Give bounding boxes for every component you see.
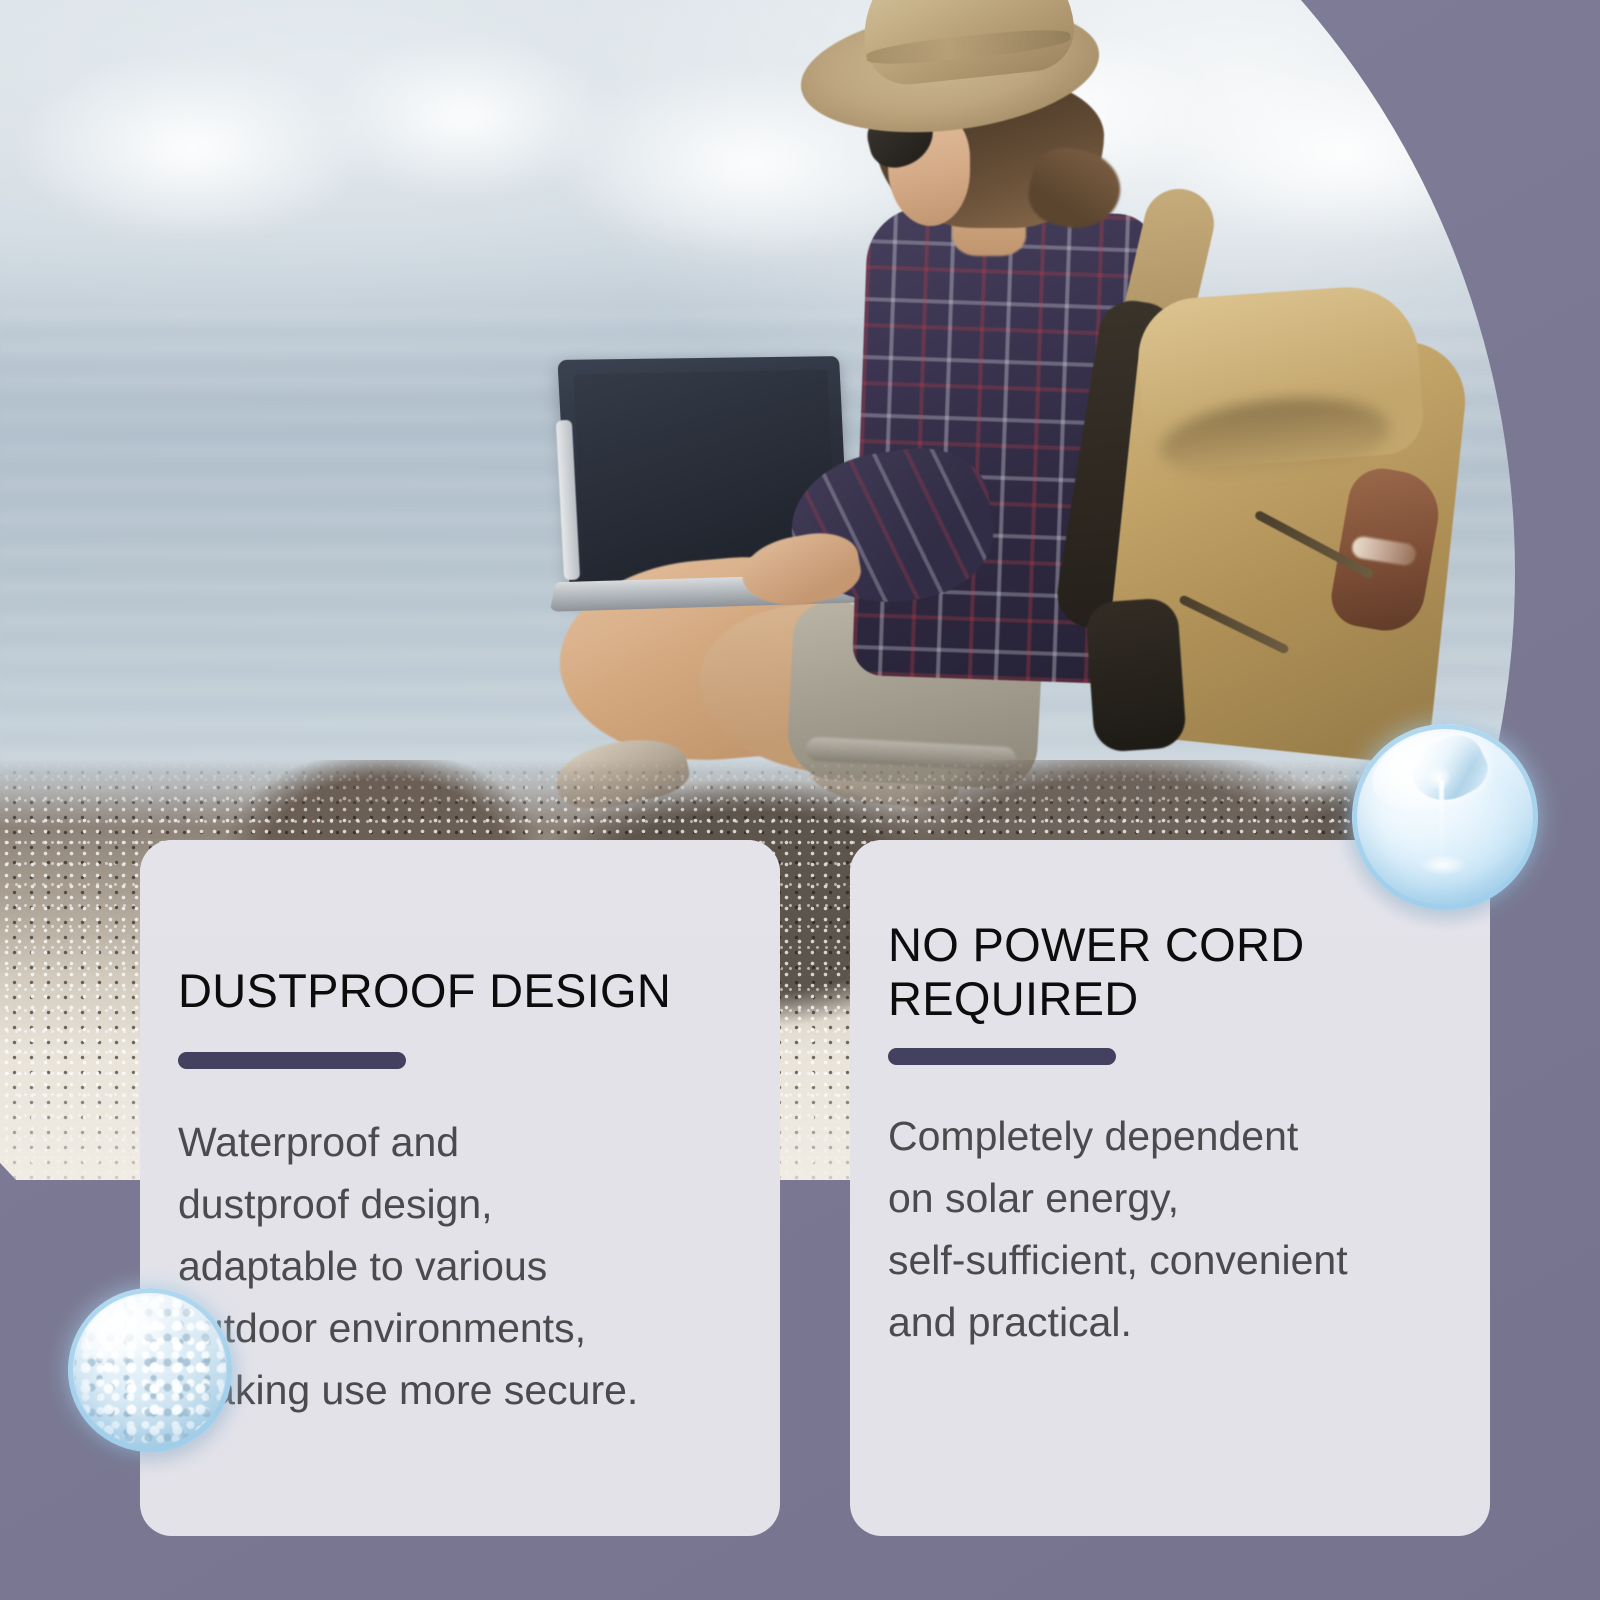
accent-bar bbox=[178, 1052, 406, 1069]
accent-bar bbox=[888, 1048, 1116, 1065]
card-content: NO POWER CORD REQUIRED Completely depend… bbox=[888, 840, 1456, 1353]
water-drop-icon bbox=[1352, 724, 1538, 910]
poster-canvas: DUSTPROOF DESIGN Waterproof and dustproo… bbox=[0, 0, 1600, 1600]
dust-crystal-icon bbox=[68, 1288, 232, 1452]
card-content: DUSTPROOF DESIGN Waterproof and dustproo… bbox=[178, 840, 746, 1421]
backpack-strap-lower bbox=[1085, 597, 1187, 753]
feature-card-no-power-cord[interactable]: NO POWER CORD REQUIRED Completely depend… bbox=[850, 840, 1490, 1536]
card-body-text: Completely dependent on solar energy, se… bbox=[888, 1105, 1456, 1353]
card-body-text: Waterproof and dustproof design, adaptab… bbox=[178, 1111, 746, 1421]
feature-card-dustproof[interactable]: DUSTPROOF DESIGN Waterproof and dustproo… bbox=[140, 840, 780, 1536]
water-drop-sparkle bbox=[1426, 765, 1452, 791]
badge-glass-rim bbox=[68, 1288, 232, 1452]
badge-glass-rim bbox=[1352, 724, 1538, 910]
card-title: DUSTPROOF DESIGN bbox=[178, 840, 746, 1018]
